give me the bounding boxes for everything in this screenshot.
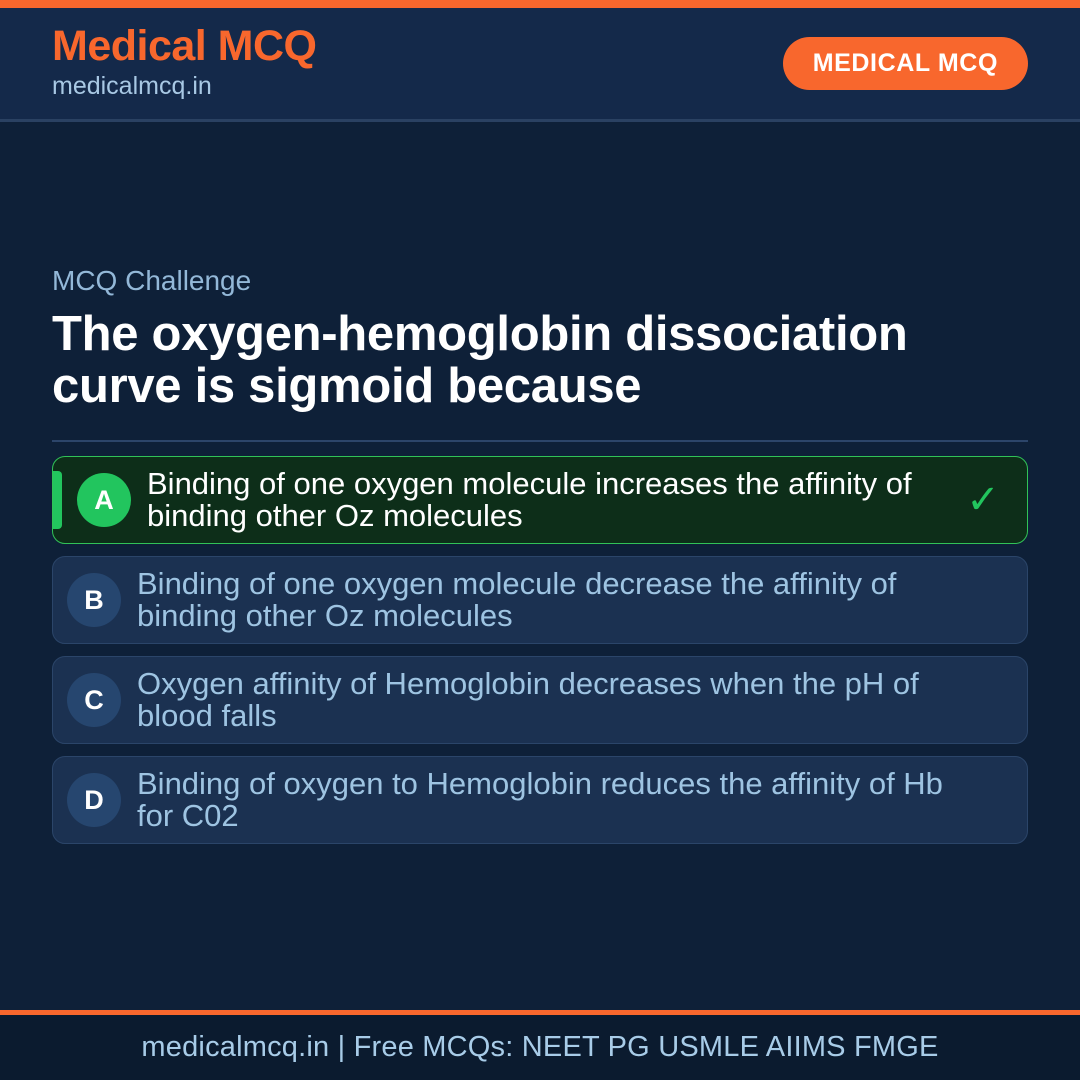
question-eyebrow: MCQ Challenge xyxy=(52,264,1028,298)
selected-accent-bar xyxy=(53,471,62,529)
option-c-marker: C xyxy=(67,673,121,727)
option-a[interactable]: A Binding of one oxygen molecule increas… xyxy=(52,456,1028,544)
option-a-text: Binding of one oxygen molecule increases… xyxy=(147,468,961,534)
option-d[interactable]: D Binding of oxygen to Hemoglobin reduce… xyxy=(52,756,1028,844)
brand: Medical MCQ medicalmcq.in xyxy=(52,24,317,102)
mcq-card: Medical MCQ medicalmcq.in MEDICAL MCQ MC… xyxy=(0,0,1080,1080)
brand-title: Medical MCQ xyxy=(52,24,317,69)
option-b-marker: B xyxy=(67,573,121,627)
brand-subtitle: medicalmcq.in xyxy=(52,71,317,102)
option-a-marker: A xyxy=(77,473,131,527)
option-d-text: Binding of oxygen to Hemoglobin reduces … xyxy=(137,768,961,834)
option-d-marker: D xyxy=(67,773,121,827)
option-c[interactable]: C Oxygen affinity of Hemoglobin decrease… xyxy=(52,656,1028,744)
option-b-text: Binding of one oxygen molecule decrease … xyxy=(137,568,961,634)
page-header: Medical MCQ medicalmcq.in MEDICAL MCQ xyxy=(0,8,1080,122)
options-list: A Binding of one oxygen molecule increas… xyxy=(52,456,1028,844)
top-accent-strip xyxy=(0,0,1080,8)
option-b[interactable]: B Binding of one oxygen molecule decreas… xyxy=(52,556,1028,644)
brand-badge: MEDICAL MCQ xyxy=(783,37,1028,90)
footer-text: medicalmcq.in | Free MCQs: NEET PG USMLE… xyxy=(141,1031,938,1064)
page-footer: medicalmcq.in | Free MCQs: NEET PG USMLE… xyxy=(0,1010,1080,1080)
question-title: The oxygen-hemoglobin dissociation curve… xyxy=(52,308,952,413)
option-c-text: Oxygen affinity of Hemoglobin decreases … xyxy=(137,668,961,734)
main-content: MCQ Challenge The oxygen-hemoglobin diss… xyxy=(0,122,1080,1010)
question-block: MCQ Challenge The oxygen-hemoglobin diss… xyxy=(52,264,1028,456)
question-divider xyxy=(52,440,1028,442)
check-icon: ✓ xyxy=(961,480,1005,520)
